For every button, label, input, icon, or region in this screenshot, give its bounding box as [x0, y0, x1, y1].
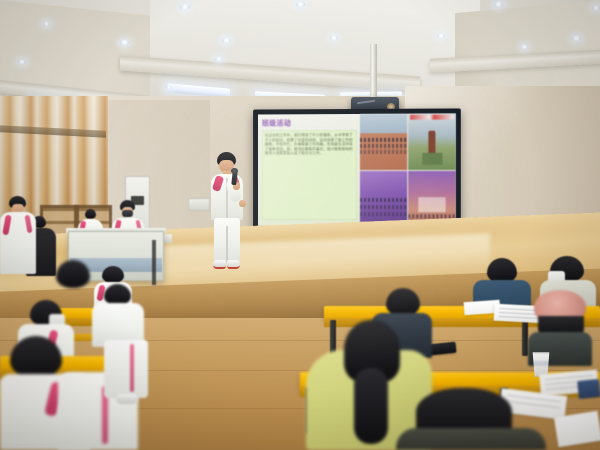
- presentation-slide: 班级活动 在过去的工作中，我们得到了不少的锻炼，从中学到了不少的知识，积累了丰富…: [258, 114, 456, 227]
- ceiling-downlight: [215, 57, 223, 61]
- projector-mount-pole: [370, 44, 377, 100]
- slide-photo-grid: [360, 114, 456, 227]
- ceiling-downlight: [572, 36, 581, 41]
- student-audience: [92, 284, 144, 346]
- student-legs: [104, 340, 148, 398]
- slide-text-panel: 班级活动 在过去的工作中，我们得到了不少的锻炼，从中学到了不少的知识，积累了丰富…: [258, 114, 360, 226]
- ceiling-downlight: [494, 2, 503, 7]
- photo-group-assembly: [360, 171, 407, 227]
- student-presenter: [206, 152, 246, 272]
- ceiling-downlight: [592, 6, 600, 10]
- standing-student-left-body: [0, 212, 36, 274]
- presenter-shoe: [227, 260, 240, 269]
- presenter-shoe: [213, 260, 226, 269]
- adult-observer-foreground: [396, 388, 546, 450]
- projection-screen[interactable]: 班级活动 在过去的工作中，我们得到了不少的锻炼，从中学到了不少的知识，积累了丰富…: [253, 108, 461, 231]
- microphone-head-icon: [231, 168, 238, 174]
- projector-trim: [357, 100, 375, 104]
- presenter-trousers: [214, 218, 240, 262]
- ceiling-downlight: [18, 60, 26, 64]
- ceiling-downlight: [521, 45, 528, 49]
- classroom-presentation-photo: 班级活动 在过去的工作中，我们得到了不少的锻炼，从中学到了不少的知识，积累了丰富…: [0, 0, 600, 450]
- student-shoe: [116, 394, 138, 404]
- slide-title: 班级活动: [262, 118, 357, 128]
- ceiling-downlight: [180, 4, 190, 10]
- panel-student-masked: [119, 200, 137, 220]
- ceiling-downlight: [43, 22, 50, 26]
- screen-surface: 班级活动 在过去的工作中，我们得到了不少的锻炼，从中学到了不少的知识，积累了丰富…: [258, 114, 456, 227]
- ceiling-downlight: [120, 40, 129, 45]
- ceiling-downlight: [222, 38, 231, 43]
- presenter-hand-gesture: [239, 200, 246, 207]
- ceiling-downlight: [166, 86, 172, 89]
- photo-track-field: [360, 114, 407, 170]
- ceiling-downlight: [437, 34, 445, 38]
- photo-ceremony-stage: [408, 114, 456, 170]
- notebook: [577, 379, 600, 399]
- ceiling-downlight: [330, 36, 338, 40]
- paper-document: [554, 411, 600, 448]
- lectern-leg: [152, 240, 156, 285]
- slide-body-text: 在过去的工作中，我们得到了不少的锻炼，从中学到了不少的知识，积累了丰富的经验，这…: [262, 130, 357, 220]
- ceiling-downlight: [296, 2, 305, 7]
- student-head-foreground: [56, 260, 90, 290]
